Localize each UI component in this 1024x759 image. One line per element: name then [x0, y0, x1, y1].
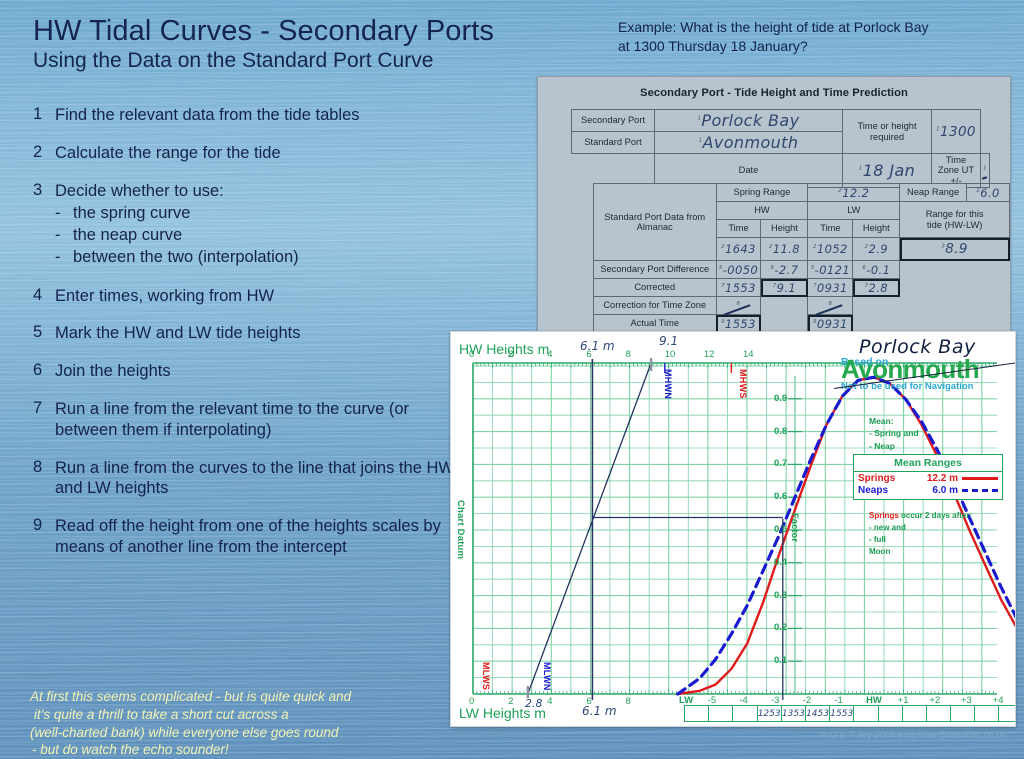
tide-prediction-form: Secondary Port - Tide Height and Time Pr… — [537, 76, 1011, 336]
hw-scale-tick: 0 — [469, 349, 474, 360]
step-item: 8Run a line from the curves to the line … — [33, 458, 463, 500]
time-entry-box[interactable] — [902, 705, 927, 722]
time-entry-box[interactable]: 1553 — [829, 705, 854, 722]
page-subtitle: Using the Data on the Standard Port Curv… — [33, 49, 533, 73]
time-entry-box[interactable] — [998, 705, 1016, 722]
springs-note-line: - new and — [869, 522, 972, 534]
hw-scale-tick: 4 — [547, 349, 552, 360]
step-item: 5Mark the HW and LW tide heights — [33, 323, 463, 344]
factor-tick: 0.6 — [774, 491, 787, 502]
example-question: Example: What is the height of tide at P… — [618, 18, 1008, 56]
legend-value: 6.0 m — [916, 485, 962, 496]
footnote-text: At first this seems complicated - but is… — [30, 688, 430, 759]
time-entry-box[interactable]: 1253 — [757, 705, 782, 722]
form-title: Secondary Port - Tide Height and Time Pr… — [538, 87, 1010, 99]
legend-name: Neaps — [858, 485, 916, 496]
lw-scale-tick: 0 — [469, 696, 474, 707]
value-corrected-hw-time[interactable]: 71553 — [716, 279, 761, 297]
step-sub-item: -the neap curve — [55, 225, 463, 247]
value-diff-lw-time[interactable]: 5-0121 — [808, 261, 853, 279]
step-number: 8 — [33, 458, 55, 500]
hw-scale-tick: 14 — [743, 349, 754, 360]
title-block: HW Tidal Curves - Secondary Ports Using … — [33, 16, 533, 73]
legend-line-swatch — [962, 477, 998, 480]
value-actual-hw-time[interactable]: 91553 — [716, 315, 761, 333]
label-corrected: Corrected — [594, 279, 717, 297]
lw-scale-tick: 2 — [508, 696, 513, 707]
bullet-dash: - — [55, 247, 73, 269]
step-number: 9 — [33, 516, 55, 558]
annotation-hw-height: 9.1 — [659, 334, 678, 348]
step-text: Run a line from the relevant time to the… — [55, 399, 463, 441]
label-hw-height: Height — [761, 220, 808, 238]
form-data-table: Standard Port Data fromAlmanac Spring Ra… — [593, 183, 1010, 333]
time-entry-box[interactable] — [732, 705, 757, 722]
step-number: 5 — [33, 323, 55, 344]
step-sub-item: -the spring curve — [55, 203, 463, 225]
value-time-required[interactable]: 11300 — [932, 110, 981, 154]
step-number: 1 — [33, 105, 55, 126]
step-sub-text: the spring curve — [73, 203, 190, 225]
chart-legend: Mean Ranges Springs12.2 mNeaps6.0 m — [853, 454, 1003, 500]
chart-datum-label: Chart Datum — [455, 500, 466, 559]
mhws-marker-label: MHWS — [738, 369, 748, 399]
lw-scale-tick: 4 — [547, 696, 552, 707]
step-item: 3Decide whether to use:-the spring curve… — [33, 181, 463, 269]
step-number: 2 — [33, 143, 55, 164]
value-corrected-lw-time[interactable]: 70931 — [808, 279, 853, 297]
label-time-or-height: Time or heightrequired — [843, 110, 932, 154]
annotation-answer-bottom: 6.1 m — [582, 704, 617, 718]
value-corr-tz-lw[interactable]: 8 — [808, 297, 853, 315]
step-sub-list: -the spring curve-the neap curve-between… — [55, 203, 463, 268]
annotation-answer-top: 6.1 m — [580, 339, 615, 353]
value-diff-lw-height[interactable]: 6-0.1 — [853, 261, 900, 279]
join-heights-line — [528, 363, 651, 694]
label-secondary-port-difference: Secondary Port Difference — [594, 261, 717, 279]
value-actual-lw-time[interactable]: 90931 — [808, 315, 853, 333]
value-almanac-hw-height[interactable]: 211.8 — [761, 238, 808, 261]
legend-line-swatch — [962, 489, 998, 492]
factor-axis-label: Factor — [789, 513, 800, 542]
hw-scale-tick: 10 — [665, 349, 676, 360]
value-corrected-hw-height[interactable]: 79.1 — [761, 279, 808, 297]
time-entry-box[interactable] — [878, 705, 903, 722]
mlws-marker-label: MLWS — [481, 662, 491, 690]
bullet-dash: - — [55, 203, 73, 225]
step-item: 7Run a line from the relevant time to th… — [33, 399, 463, 441]
factor-tick: 0.4 — [774, 557, 787, 568]
springs-note-line: Springs occur 2 days after: — [869, 510, 972, 522]
label-range-this-tide: Range for thistide (HW-LW) — [900, 202, 1010, 238]
chart-brand: Porlock Bay Based on Avonmouth Not to be… — [841, 336, 1016, 392]
factor-tick: 0.8 — [774, 426, 787, 437]
step-text: Run a line from the curves to the line t… — [55, 458, 463, 500]
value-secondary-port[interactable]: 1Porlock Bay — [655, 110, 843, 132]
label-lw-height: Height — [853, 220, 900, 238]
step-text: Mark the HW and LW tide heights — [55, 323, 463, 344]
time-entry-box[interactable] — [926, 705, 951, 722]
step-text: Decide whether to use:-the spring curve-… — [55, 181, 463, 269]
factor-tick: 0.7 — [774, 458, 787, 469]
value-spring-range[interactable]: 212.2 — [808, 184, 900, 202]
legend-value: 12.2 m — [916, 473, 962, 484]
mean-note-line: - Spring and — [869, 427, 919, 439]
value-almanac-lw-height[interactable]: 22.9 — [853, 238, 900, 261]
hw-scale-tick: 12 — [704, 349, 715, 360]
factor-tick: 0.2 — [774, 622, 787, 633]
time-entry-box[interactable] — [853, 705, 878, 722]
step-text: Join the heights — [55, 361, 463, 382]
value-neap-range[interactable]: 26.0 — [967, 184, 1010, 202]
hw-scale-tick: 2 — [508, 349, 513, 360]
legend-title: Mean Ranges — [854, 457, 1002, 472]
copyright-notice: © O E T Joy 2008 enquiries@sailskills.co… — [820, 730, 1006, 741]
factor-tick: 0.1 — [774, 655, 787, 666]
time-entry-box[interactable] — [950, 705, 975, 722]
brand-standard-port: Avonmouth — [841, 358, 1016, 380]
time-entry-box[interactable] — [708, 705, 733, 722]
factor-tick: 0.3 — [774, 590, 787, 601]
footnote-line: At first this seems complicated - but is… — [30, 688, 430, 706]
footnote-line: (well-charted bank) while everyone else … — [30, 724, 430, 742]
page-title: HW Tidal Curves - Secondary Ports — [33, 16, 533, 47]
time-entry-boxes: 1253135314531553 — [684, 705, 1016, 722]
step-item: 6Join the heights — [33, 361, 463, 382]
footnote-line: - but do watch the echo sounder! — [30, 741, 430, 759]
value-range-this-tide[interactable]: 38.9 — [900, 238, 1010, 261]
step-sub-text: between the two (interpolation) — [73, 247, 299, 269]
time-entry-box[interactable]: 1453 — [805, 705, 830, 722]
springs-note-line: Moon — [869, 546, 972, 558]
value-diff-hw-time[interactable]: 5-0050 — [716, 261, 761, 279]
label-hw-group: HW — [716, 202, 808, 220]
footnote-line: it's quite a thrill to take a short cut … — [30, 706, 430, 724]
tidal-curve-chart: HW Heights m LW Heights m Chart Datum Fa… — [450, 331, 1016, 727]
bullet-dash: - — [55, 225, 73, 247]
step-item: 4Enter times, working from HW — [33, 286, 463, 307]
value-almanac-lw-time[interactable]: 21052 — [808, 238, 853, 261]
time-entry-box[interactable] — [684, 705, 709, 722]
step-number: 3 — [33, 181, 55, 269]
value-standard-port[interactable]: 1Avonmouth — [655, 132, 843, 154]
example-line-1: Example: What is the height of tide at P… — [618, 18, 1008, 37]
lw-scale-tick: 8 — [626, 696, 631, 707]
step-number: 7 — [33, 399, 55, 441]
value-diff-hw-height[interactable]: 6-2.7 — [761, 261, 808, 279]
time-entry-box[interactable]: 1353 — [781, 705, 806, 722]
step-sub-text: the neap curve — [73, 225, 182, 247]
mean-note-line: - Neap — [869, 440, 919, 452]
step-text: Find the relevant data from the tide tab… — [55, 105, 463, 126]
factor-tick: 0.9 — [774, 393, 787, 404]
legend-row: Neaps6.0 m — [854, 484, 1002, 496]
label-correction-time-zone: Correction for Time Zone — [594, 297, 717, 315]
hw-scale-tick: 8 — [626, 349, 631, 360]
mlwn-marker-label: MLWN — [542, 662, 552, 691]
time-entry-box[interactable] — [974, 705, 999, 722]
step-text: Enter times, working from HW — [55, 286, 463, 307]
label-neap-range: Neap Range — [900, 184, 967, 202]
label-standard-port: Standard Port — [572, 132, 655, 154]
value-corrected-lw-height[interactable]: 72.8 — [853, 279, 900, 297]
step-text: Read off the height from one of the heig… — [55, 516, 463, 558]
legend-name: Springs — [858, 473, 916, 484]
legend-row: Springs12.2 m — [854, 472, 1002, 484]
steps-list: 1Find the relevant data from the tide ta… — [33, 105, 463, 575]
label-spring-range: Spring Range — [716, 184, 808, 202]
step-sub-item: -between the two (interpolation) — [55, 247, 463, 269]
label-hw-time: Time — [716, 220, 761, 238]
label-actual-time: Actual Time — [594, 315, 717, 333]
mean-note-line: Mean: — [869, 415, 919, 427]
factor-tick: 0.5 — [774, 524, 787, 535]
value-almanac-hw-time[interactable]: 21643 — [716, 238, 761, 261]
value-corr-tz-hw[interactable]: 8 — [716, 297, 761, 315]
form-header-table: Secondary Port 1Porlock Bay Time or heig… — [571, 109, 990, 188]
example-line-2: at 1300 Thursday 18 January? — [618, 37, 1008, 56]
step-number: 6 — [33, 361, 55, 382]
label-lw-group: LW — [808, 202, 900, 220]
step-item: 1Find the relevant data from the tide ta… — [33, 105, 463, 126]
step-item: 9Read off the height from one of the hei… — [33, 516, 463, 558]
springs-note-line: - full — [869, 534, 972, 546]
annotation-lw-height: 2.8 — [525, 697, 543, 710]
step-text: Calculate the range for the tide — [55, 143, 463, 164]
mhwn-marker-label: MHWN — [663, 369, 673, 399]
step-item: 2Calculate the range for the tide — [33, 143, 463, 164]
springs-occurrence-note: Springs occur 2 days after:- new and- fu… — [869, 510, 972, 558]
step-number: 4 — [33, 286, 55, 307]
label-secondary-port: Secondary Port — [572, 110, 655, 132]
label-lw-time: Time — [808, 220, 853, 238]
label-standard-port-data: Standard Port Data fromAlmanac — [594, 184, 717, 261]
